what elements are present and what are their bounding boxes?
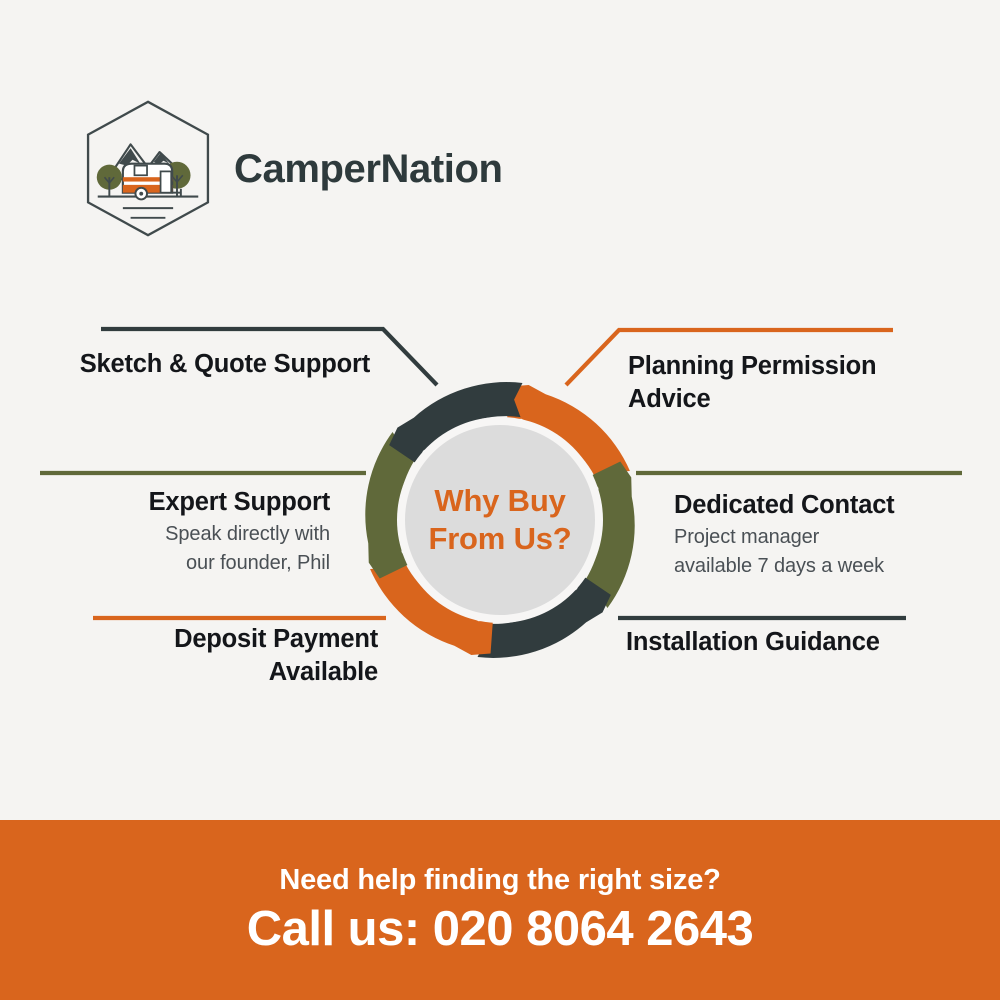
label-subtitle-line2: our founder, Phil [30, 550, 330, 576]
donut-center-label: Why Buy From Us? [400, 482, 600, 558]
cta-phone-number[interactable]: Call us: 020 8064 2643 [247, 901, 754, 957]
label-title: Installation Guidance [626, 626, 966, 659]
label-title-line2: Available [70, 656, 378, 689]
infographic-page: CamperNation [0, 0, 1000, 1000]
cta-question: Need help finding the right size? [279, 864, 720, 897]
label-title: Expert Support [30, 486, 330, 519]
label-expert-support: Expert Support Speak directly with our f… [30, 486, 330, 576]
label-subtitle-line2: available 7 days a week [674, 553, 984, 579]
call-to-action-bar: Need help finding the right size? Call u… [0, 820, 1000, 1000]
label-dedicated-contact: Dedicated Contact Project manager availa… [674, 489, 984, 579]
center-title-line2: From Us? [400, 520, 600, 558]
brand-name: CamperNation [234, 149, 503, 189]
label-title-line1: Planning Permission [628, 350, 958, 383]
brand-logo: CamperNation [78, 96, 503, 241]
why-buy-donut-diagram: Why Buy From Us? [340, 360, 660, 680]
label-subtitle-line1: Speak directly with [30, 521, 330, 547]
label-deposit-payment: Deposit Payment Available [70, 623, 378, 689]
label-installation-guidance: Installation Guidance [626, 626, 966, 659]
label-sketch-quote-support: Sketch & Quote Support [10, 348, 370, 381]
center-title-line1: Why Buy [400, 482, 600, 520]
label-title-line1: Deposit Payment [70, 623, 378, 656]
label-title: Sketch & Quote Support [10, 348, 370, 381]
label-title-line2: Advice [628, 383, 958, 416]
camper-hexagon-badge-icon [78, 96, 218, 241]
label-planning-permission-advice: Planning Permission Advice [628, 350, 958, 416]
label-subtitle-line1: Project manager [674, 524, 984, 550]
label-title: Dedicated Contact [674, 489, 984, 522]
